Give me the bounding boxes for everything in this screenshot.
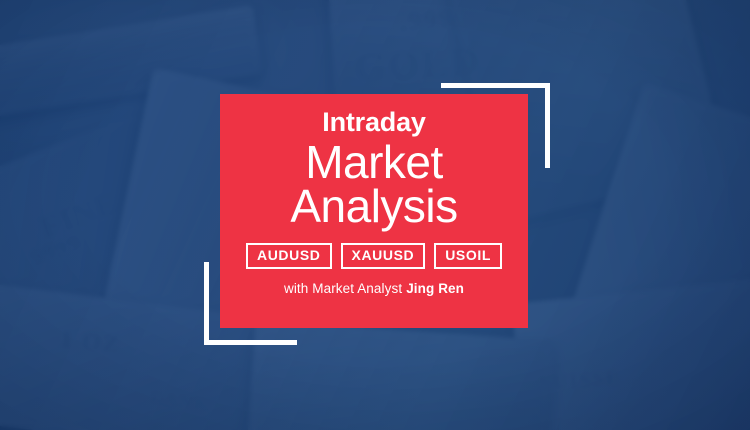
ticker-badge-xauusd[interactable]: XAUUSD <box>341 243 426 269</box>
ticker-badge-audusd[interactable]: AUDUSD <box>246 243 332 269</box>
headline: Market Analysis <box>290 140 457 228</box>
byline: with Market AnalystJing Ren <box>284 281 464 296</box>
byline-prefix: with Market Analyst <box>284 281 402 296</box>
ticker-badge-usoil[interactable]: USOIL <box>434 243 502 269</box>
kicker-text: Intraday <box>322 108 425 138</box>
ticker-badge-list: AUDUSD XAUUSD USOIL <box>246 243 502 269</box>
intraday-market-analysis-banner: .999 GOLD FINE 9999 1 OZ SUISSE BANK Int… <box>0 0 750 430</box>
red-content-card: Intraday Market Analysis AUDUSD XAUUSD U… <box>220 94 528 328</box>
headline-line-2: Analysis <box>290 184 457 228</box>
analyst-name: Jing Ren <box>406 281 464 296</box>
